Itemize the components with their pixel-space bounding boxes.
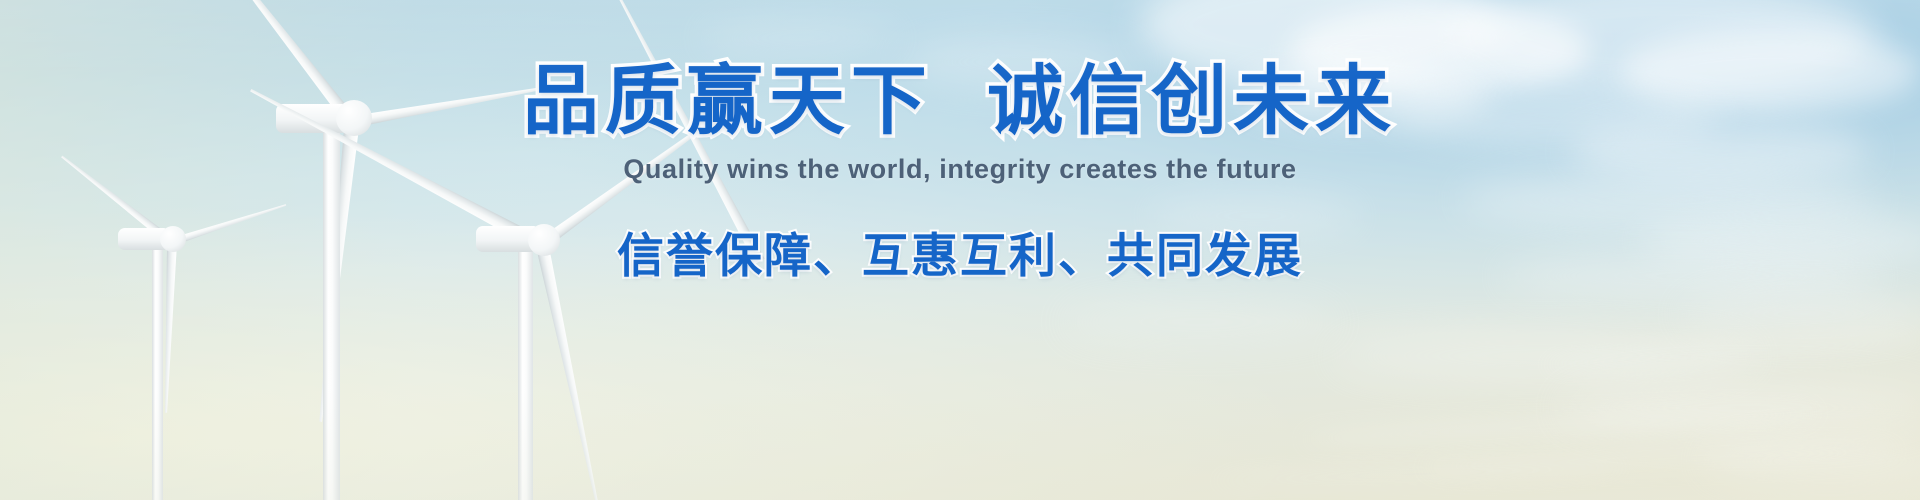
banner-headline: 品质赢天下 诚信创未来 [0,62,1920,142]
banner-slogan: 信誉保障、互惠互利、共同发展 [0,217,1920,286]
turbine-mast [518,248,533,500]
banner-subtitle: Quality wins the world, integrity create… [0,154,1920,185]
banner-text-block: 品质赢天下 诚信创未来 Quality wins the world, inte… [0,62,1920,286]
hero-banner: 品质赢天下 诚信创未来 Quality wins the world, inte… [0,0,1920,500]
